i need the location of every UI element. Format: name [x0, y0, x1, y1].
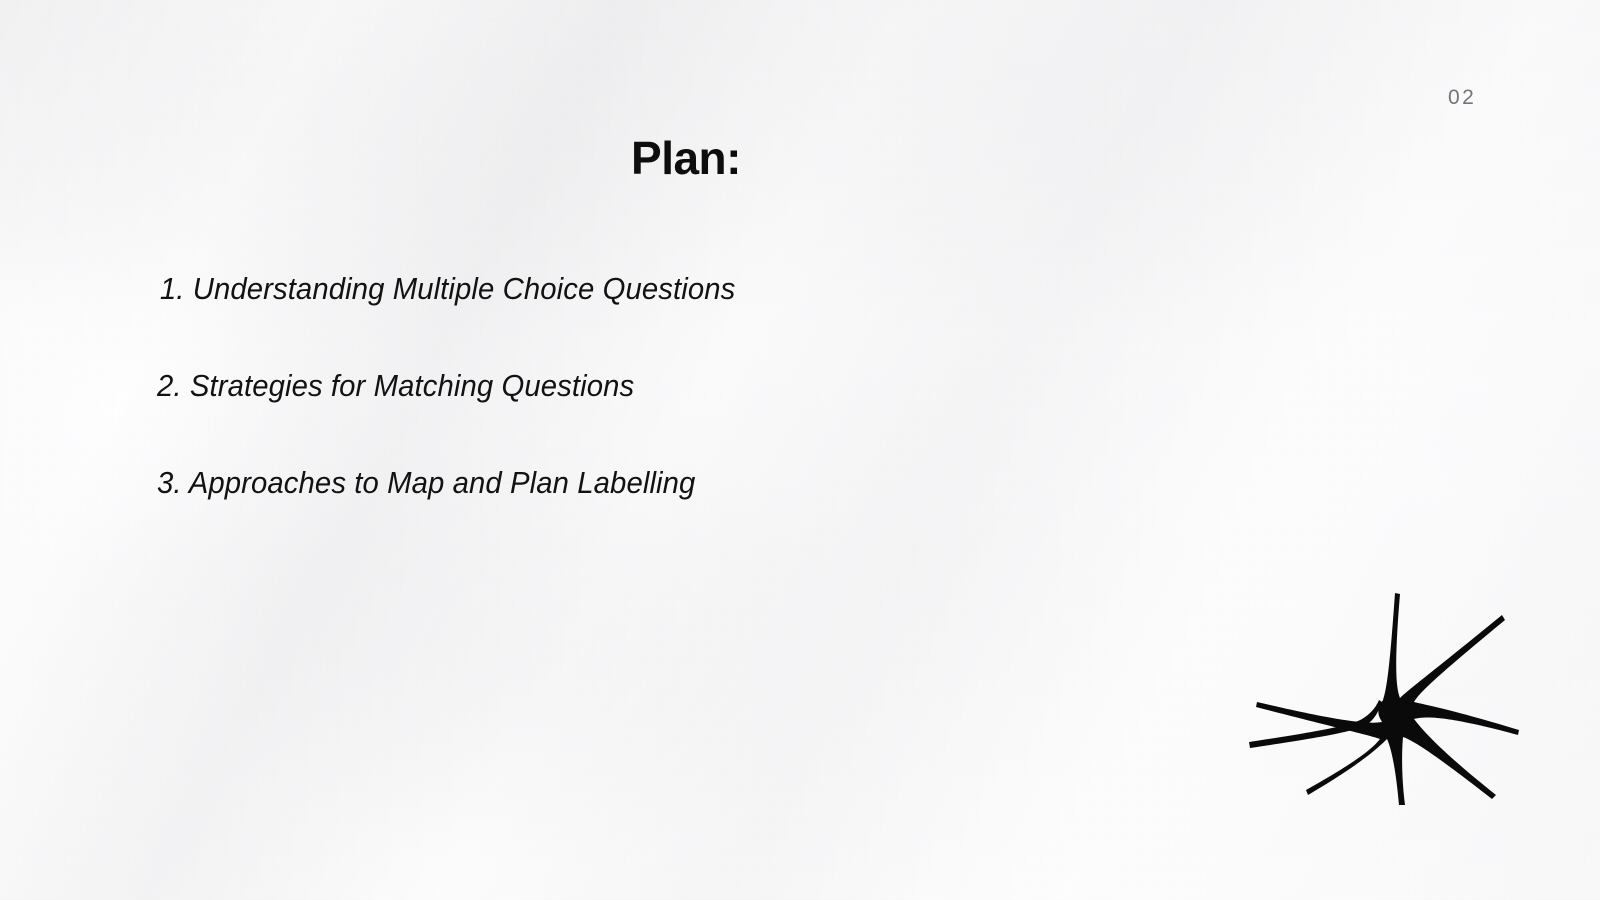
sparkle-star-shape: [1248, 578, 1520, 806]
agenda-item-2: 2. Strategies for Matching Questions: [157, 370, 1102, 401]
agenda-item-3: 3. Approaches to Map and Plan Labelling: [157, 467, 1102, 498]
page-title: Plan:: [0, 131, 1372, 185]
sparkle-star-icon: [1248, 578, 1520, 806]
agenda-list: 1. Understanding Multiple Choice Questio…: [157, 273, 1157, 498]
presentation-slide: 02 Plan: 1. Understanding Multiple Choic…: [0, 0, 1600, 900]
page-number: 02: [1448, 86, 1476, 110]
agenda-item-1: 1. Understanding Multiple Choice Questio…: [157, 273, 1102, 304]
